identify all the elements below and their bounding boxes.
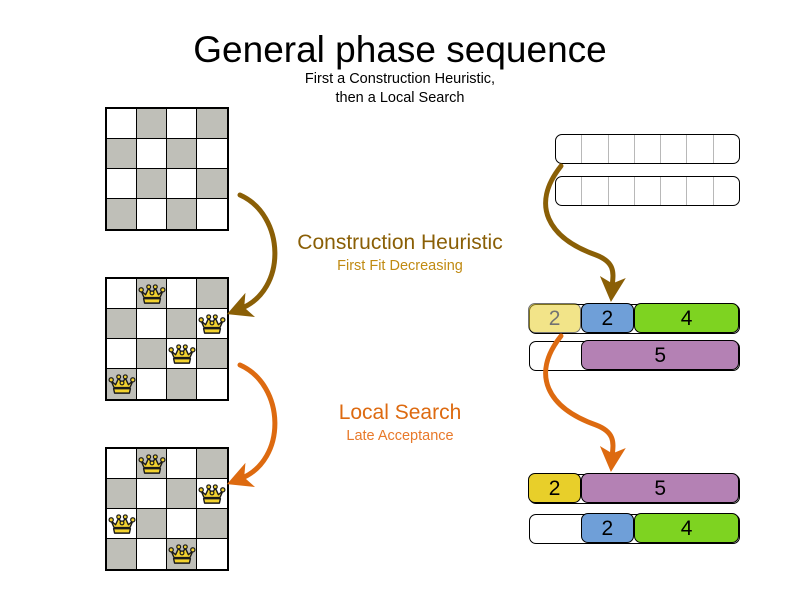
queen-icon <box>198 311 226 337</box>
page-subtitle: First a Construction Heuristic, then a L… <box>0 70 800 108</box>
queen-icon <box>168 341 196 367</box>
queen-icon <box>138 451 166 477</box>
board-cell[interactable] <box>197 199 227 229</box>
board-cell[interactable] <box>197 169 227 199</box>
board-cell[interactable] <box>107 539 137 569</box>
bin-item-4[interactable]: 4 <box>634 513 740 543</box>
bin-item-5[interactable]: 5 <box>581 340 739 370</box>
bin-slot[interactable] <box>556 177 581 205</box>
board-cell[interactable] <box>167 509 197 539</box>
board-cell[interactable] <box>137 199 167 229</box>
board-cell[interactable] <box>137 279 167 309</box>
queen-icon <box>138 281 166 307</box>
board-cell[interactable] <box>107 309 137 339</box>
board-cell[interactable] <box>107 479 137 509</box>
board-cell[interactable] <box>137 169 167 199</box>
page-title: General phase sequence <box>0 28 800 72</box>
board-cell[interactable] <box>197 309 227 339</box>
phase-algorithm-first-fit-decreasing: First Fit Decreasing <box>250 256 550 276</box>
board-cell[interactable] <box>137 309 167 339</box>
board-cell[interactable] <box>197 539 227 569</box>
board-cell[interactable] <box>167 199 197 229</box>
board-after-local-search <box>105 447 229 571</box>
board-cell[interactable] <box>197 339 227 369</box>
phase-algorithm-late-acceptance: Late Acceptance <box>250 426 550 446</box>
board-cell[interactable] <box>107 449 137 479</box>
queen-icon <box>108 511 136 537</box>
board-cell[interactable] <box>107 339 137 369</box>
board-cell[interactable] <box>107 109 137 139</box>
board-cell[interactable] <box>137 139 167 169</box>
subtitle-line-1: First a Construction Heuristic, <box>0 70 800 89</box>
board-cell[interactable] <box>197 369 227 399</box>
subtitle-line-2: then a Local Search <box>0 89 800 108</box>
board-cell[interactable] <box>137 109 167 139</box>
bins-initial-bin-1[interactable] <box>555 134 740 164</box>
board-cell[interactable] <box>137 509 167 539</box>
bin-slot[interactable] <box>661 135 686 163</box>
bin-item-2[interactable]: 2 <box>581 303 634 333</box>
board-cell[interactable] <box>107 139 137 169</box>
board-cell[interactable] <box>167 279 197 309</box>
bin-slot[interactable] <box>582 135 607 163</box>
board-after-construction <box>105 277 229 401</box>
bin-slot[interactable] <box>714 135 739 163</box>
bin-slot[interactable] <box>714 177 739 205</box>
bins-after-local-search-bin-1[interactable]: 25 <box>529 474 740 504</box>
board-cell[interactable] <box>167 449 197 479</box>
board-cell[interactable] <box>167 169 197 199</box>
board-cell[interactable] <box>167 309 197 339</box>
board-initial <box>105 107 229 231</box>
board-cell[interactable] <box>167 139 197 169</box>
bin-slot[interactable] <box>687 135 712 163</box>
board-cell[interactable] <box>137 479 167 509</box>
board-cell[interactable] <box>197 449 227 479</box>
phase-label-local-search: Local Search Late Acceptance <box>250 400 550 446</box>
phase-name-local-search: Local Search <box>250 400 550 426</box>
bin-slot[interactable] <box>556 135 581 163</box>
board-cell[interactable] <box>137 339 167 369</box>
bin-item-4[interactable]: 4 <box>634 303 740 333</box>
bin-slot[interactable] <box>609 135 634 163</box>
phase-name-construction-heuristic: Construction Heuristic <box>250 230 550 256</box>
board-cell[interactable] <box>197 279 227 309</box>
board-cell[interactable] <box>107 279 137 309</box>
board-cell[interactable] <box>197 139 227 169</box>
board-cell[interactable] <box>167 479 197 509</box>
board-cell[interactable] <box>107 509 137 539</box>
bin-item-2[interactable]: 2 <box>581 513 634 543</box>
board-cell[interactable] <box>197 479 227 509</box>
bins-after-local-search-bin-2[interactable]: 24 <box>529 514 740 544</box>
bin-slot[interactable] <box>661 177 686 205</box>
board-cell[interactable] <box>107 169 137 199</box>
queen-icon <box>168 542 196 568</box>
board-cell[interactable] <box>137 369 167 399</box>
bin-item-5[interactable]: 5 <box>581 473 739 503</box>
queen-icon <box>108 372 136 398</box>
board-cell[interactable] <box>167 339 197 369</box>
phase-label-construction-heuristic: Construction Heuristic First Fit Decreas… <box>250 230 550 276</box>
diagram-canvas: General phase sequence First a Construct… <box>0 0 800 600</box>
board-cell[interactable] <box>107 199 137 229</box>
board-cell[interactable] <box>197 109 227 139</box>
bins-after-construction-bin-2[interactable]: 5 <box>529 341 740 371</box>
bins-after-construction-bin-1[interactable]: 224 <box>529 304 740 334</box>
bin-item-2[interactable]: 2 <box>528 473 581 503</box>
board-cell[interactable] <box>137 449 167 479</box>
bin-slot[interactable] <box>582 177 607 205</box>
board-cell[interactable] <box>167 109 197 139</box>
bin-slot[interactable] <box>635 135 660 163</box>
bins-initial-bin-2[interactable] <box>555 176 740 206</box>
bin-slot[interactable] <box>609 177 634 205</box>
board-cell[interactable] <box>167 369 197 399</box>
board-cell[interactable] <box>167 539 197 569</box>
bin-slot[interactable] <box>635 177 660 205</box>
board-cell[interactable] <box>137 539 167 569</box>
bin-item-2[interactable]: 2 <box>528 303 581 333</box>
bin-slot[interactable] <box>687 177 712 205</box>
queen-icon <box>198 481 226 507</box>
board-cell[interactable] <box>107 369 137 399</box>
board-cell[interactable] <box>197 509 227 539</box>
